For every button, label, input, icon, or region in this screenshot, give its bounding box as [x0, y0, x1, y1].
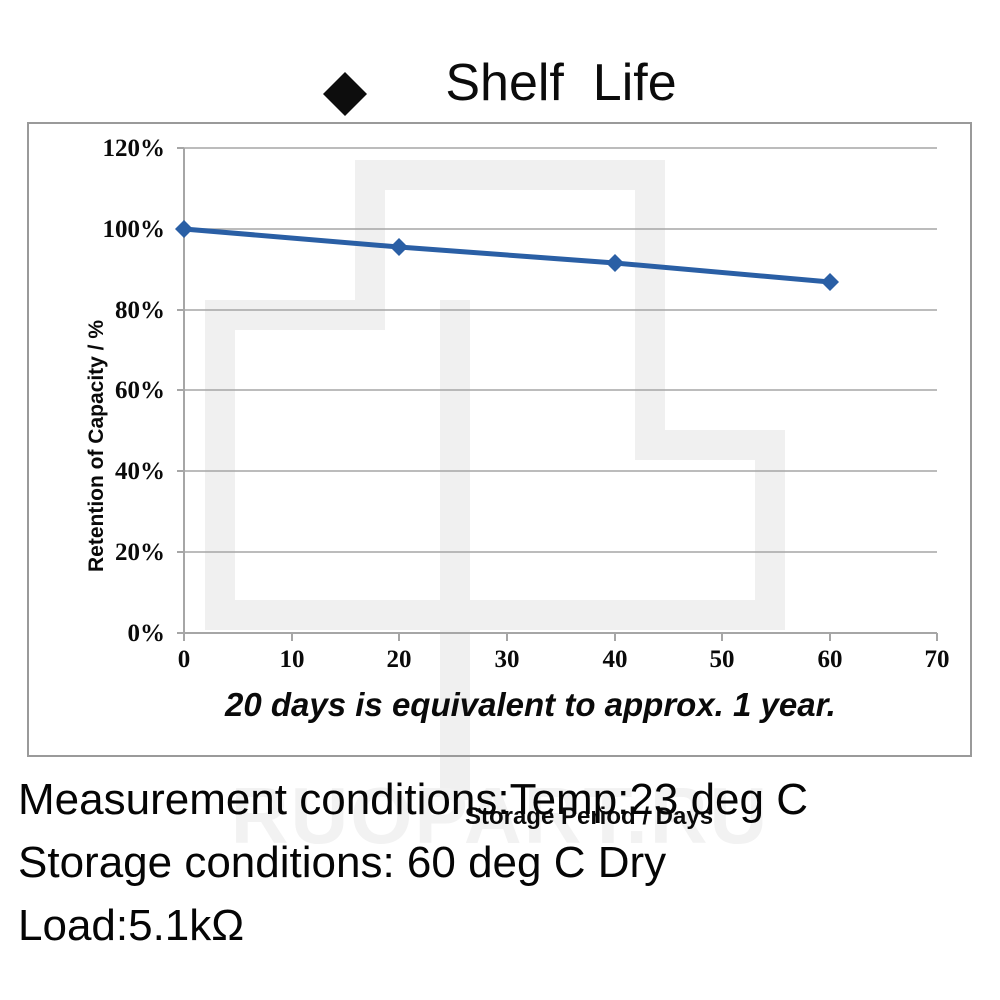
chart-frame: 120% 100% 80% 60% 40% 20% 0% 0 10 20 30 … — [27, 122, 972, 757]
x-tick-label-70: 70 — [907, 646, 967, 674]
gridlines — [184, 148, 937, 552]
plot-annotation: 20 days is equivalent to approx. 1 year. — [225, 686, 836, 724]
data-point-marker — [390, 238, 408, 256]
diamond-marker-icon — [323, 50, 367, 94]
x-tick-marks — [184, 633, 937, 641]
y-tick-label-0: 0% — [75, 620, 165, 648]
x-tick-label-40: 40 — [585, 646, 645, 674]
chart-title-row: Shelf Life — [0, 48, 1000, 118]
x-tick-label-50: 50 — [692, 646, 752, 674]
caption-block: Measurement conditions:Temp:23 deg C Sto… — [18, 768, 988, 957]
data-point-marker — [821, 273, 839, 291]
caption-line-storage: Storage conditions: 60 deg C Dry — [18, 831, 988, 894]
x-tick-label-60: 60 — [800, 646, 860, 674]
x-tick-label-20: 20 — [369, 646, 429, 674]
caption-line-load: Load:5.1kΩ — [18, 894, 988, 957]
y-axis-title: Retention of Capacity / % — [85, 316, 109, 576]
data-point-marker — [606, 254, 624, 272]
x-tick-label-30: 30 — [477, 646, 537, 674]
y-tick-label-120: 120% — [75, 135, 165, 163]
data-series-line — [184, 229, 830, 282]
x-tick-label-10: 10 — [262, 646, 322, 674]
y-tick-marks — [177, 148, 184, 633]
x-tick-label-0: 0 — [154, 646, 214, 674]
data-point-marker — [175, 220, 193, 238]
chart-title: Shelf Life — [445, 53, 676, 113]
caption-line-measurement: Measurement conditions:Temp:23 deg C — [18, 768, 988, 831]
y-tick-label-100: 100% — [75, 216, 165, 244]
